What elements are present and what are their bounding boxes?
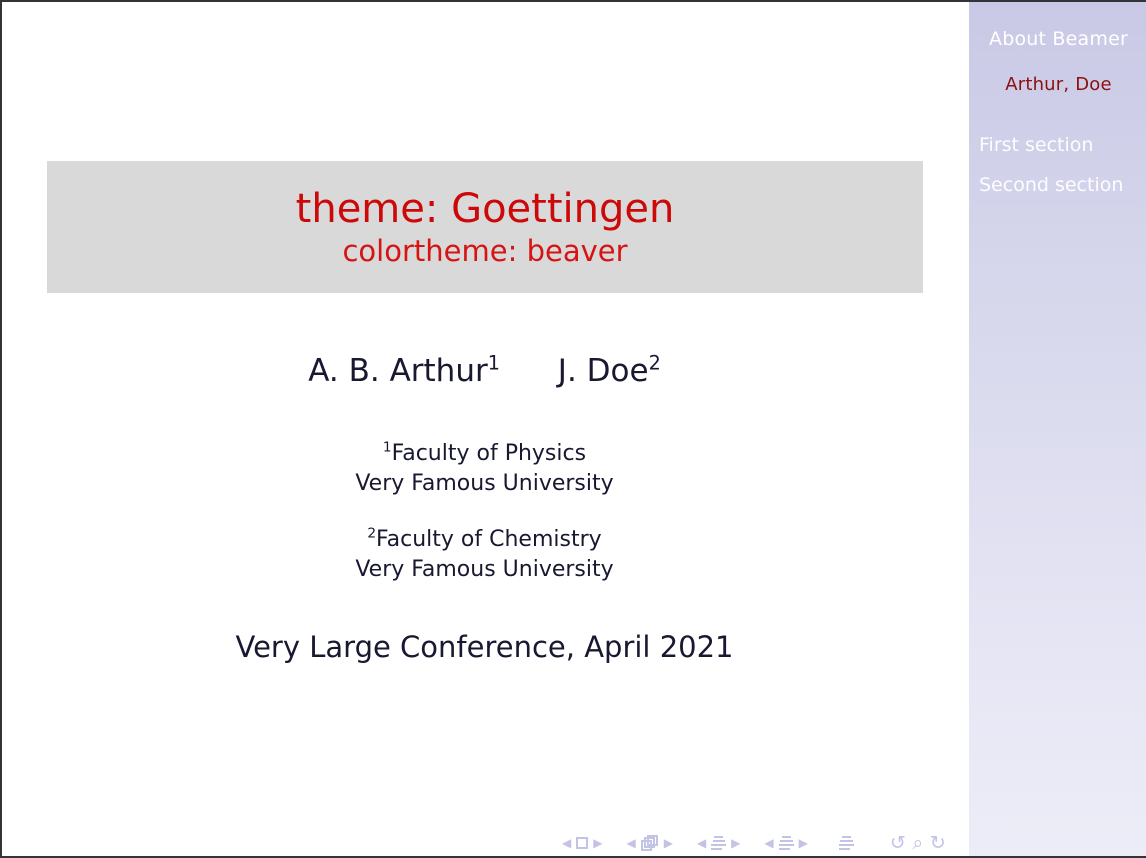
section-lines-icon[interactable] bbox=[779, 836, 794, 850]
beamer-slide: theme: Goettingen colortheme: beaver A. … bbox=[0, 0, 1146, 858]
affiliation-block: 1Faculty of Physics Very Famous Universi… bbox=[2, 439, 967, 500]
sidebar-talk-title: About Beamer bbox=[969, 28, 1146, 50]
affiliation-block: 2Faculty of Chemistry Very Famous Univer… bbox=[2, 525, 967, 586]
prev-frame-icon[interactable]: ◀ bbox=[621, 837, 640, 849]
next-section-icon[interactable]: ▶ bbox=[794, 837, 813, 849]
affiliation-marker: 1 bbox=[383, 440, 392, 456]
sidebar-author: Arthur, Doe bbox=[969, 74, 1146, 95]
next-subsection-icon[interactable]: ▶ bbox=[726, 837, 745, 849]
title-block: theme: Goettingen colortheme: beaver bbox=[47, 161, 923, 293]
forward-icon[interactable]: ↻ bbox=[928, 833, 948, 853]
prev-section-icon[interactable]: ◀ bbox=[759, 837, 778, 849]
affiliation-department: Faculty of Chemistry bbox=[376, 527, 602, 552]
page-title: theme: Goettingen bbox=[296, 188, 675, 230]
stacked-frames-icon[interactable] bbox=[641, 835, 659, 851]
author-name: A. B. Arthur bbox=[308, 353, 488, 389]
affiliation-institution: Very Famous University bbox=[2, 469, 967, 499]
affiliation-department-line: 1Faculty of Physics bbox=[2, 439, 967, 469]
author-name: J. Doe bbox=[558, 353, 649, 389]
author-affiliation-marker: 2 bbox=[649, 352, 661, 375]
document-navigation-group[interactable]: ↺ ⌕ ↻ bbox=[888, 833, 948, 853]
affiliation-department: Faculty of Physics bbox=[392, 441, 586, 466]
affiliation-institution: Very Famous University bbox=[2, 555, 967, 585]
frame-navigation-group[interactable]: ◀ ▶ bbox=[621, 835, 677, 851]
back-icon[interactable]: ↺ bbox=[888, 833, 908, 853]
sidebar: About Beamer Arthur, Doe First section S… bbox=[969, 2, 1146, 858]
page-subtitle: colortheme: beaver bbox=[342, 236, 627, 266]
subsection-lines-icon[interactable] bbox=[711, 836, 726, 850]
conference-date-line: Very Large Conference, April 2021 bbox=[2, 630, 967, 664]
section-navigation-group[interactable]: ◀ ▶ bbox=[759, 836, 812, 850]
presentation-lines-icon[interactable] bbox=[839, 836, 854, 850]
author-affiliation-marker: 1 bbox=[488, 352, 500, 375]
prev-slide-icon[interactable]: ◀ bbox=[557, 837, 576, 849]
search-icon[interactable]: ⌕ bbox=[908, 833, 928, 853]
beamer-navigation-symbols[interactable]: ◀ ▶ ◀ ▶ ◀ ▶ ◀ ▶ ↺ ⌕ ↻ bbox=[557, 830, 957, 856]
next-frame-icon[interactable]: ▶ bbox=[659, 837, 678, 849]
affiliation-marker: 2 bbox=[367, 526, 376, 542]
slide-square-icon[interactable] bbox=[576, 837, 588, 849]
affiliation-department-line: 2Faculty of Chemistry bbox=[2, 525, 967, 555]
author-entry: J. Doe2 bbox=[558, 353, 661, 389]
author-list: A. B. Arthur1 J. Doe2 bbox=[2, 353, 967, 389]
prev-subsection-icon[interactable]: ◀ bbox=[692, 837, 711, 849]
subsection-navigation-group[interactable]: ◀ ▶ bbox=[692, 836, 745, 850]
next-slide-icon[interactable]: ▶ bbox=[588, 837, 607, 849]
sidebar-item-first-section[interactable]: First section bbox=[979, 134, 1146, 156]
sidebar-item-second-section[interactable]: Second section bbox=[979, 174, 1146, 196]
slide-navigation-group[interactable]: ◀ ▶ bbox=[557, 837, 607, 849]
author-entry: A. B. Arthur1 bbox=[308, 353, 500, 389]
